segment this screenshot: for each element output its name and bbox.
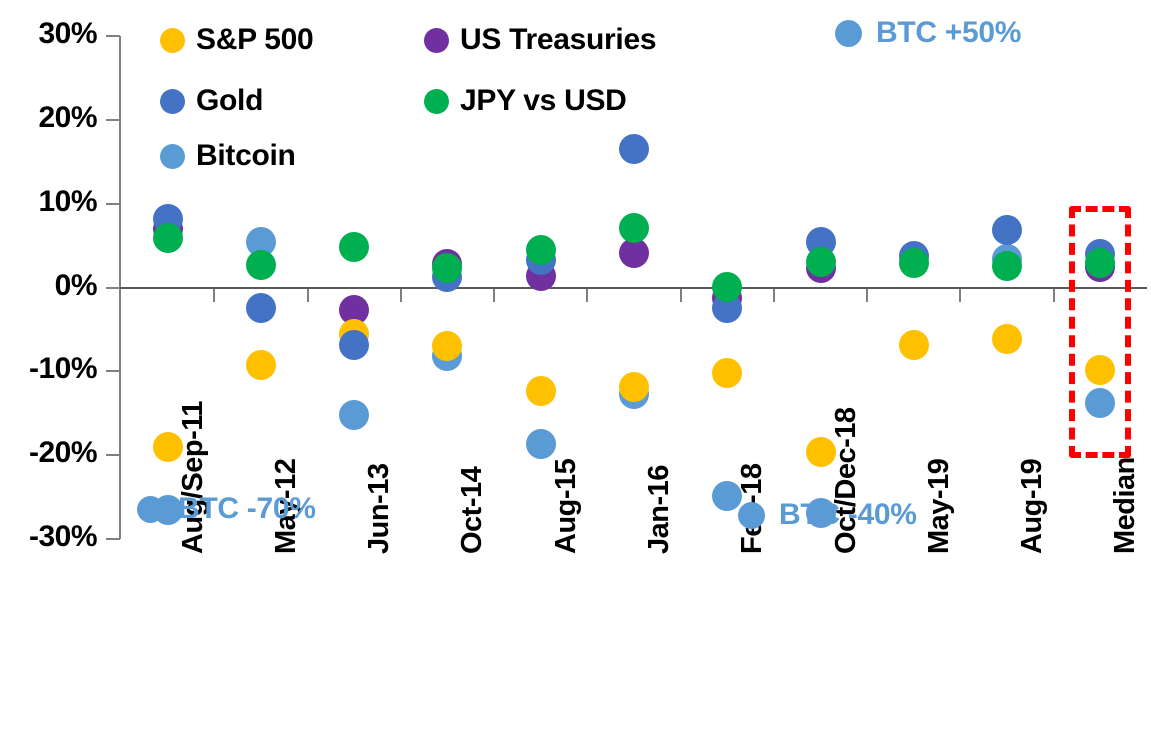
category-separator — [1053, 289, 1055, 302]
legend-marker-icon — [160, 89, 185, 114]
annotation-label: BTC -70% — [178, 492, 316, 526]
y-axis-tick-label: -30% — [0, 522, 97, 552]
data-point — [526, 429, 556, 459]
legend-item-label: Bitcoin — [196, 139, 296, 173]
data-point — [899, 330, 929, 360]
legend-item-label: JPY vs USD — [460, 84, 627, 118]
category-separator — [586, 289, 588, 302]
category-separator — [959, 289, 961, 302]
annotation-btc-down-70: BTC -70% — [137, 492, 316, 526]
category-separator — [400, 289, 402, 302]
legend-item-jpy-vs-usd[interactable]: JPY vs USD — [424, 84, 627, 118]
data-point — [526, 376, 556, 406]
legend-item-bitcoin[interactable]: Bitcoin — [160, 139, 296, 173]
data-point — [339, 232, 369, 262]
legend-item-gold[interactable]: Gold — [160, 84, 263, 118]
y-axis-tick — [106, 370, 120, 372]
data-point — [619, 213, 649, 243]
x-axis-label: Median — [1111, 457, 1140, 554]
x-axis-label: Jun-13 — [365, 464, 394, 554]
bitcoin-marker-icon — [137, 496, 164, 523]
data-point — [246, 350, 276, 380]
zero-baseline — [119, 287, 1147, 289]
x-axis-label: Aug/Sep-11 — [179, 401, 208, 554]
category-separator — [680, 289, 682, 302]
median-highlight-box — [1069, 206, 1131, 458]
annotation-label: BTC +50% — [876, 16, 1021, 50]
data-point — [153, 223, 183, 253]
data-point — [712, 358, 742, 388]
bitcoin-marker-icon — [738, 502, 765, 529]
category-separator — [773, 289, 775, 302]
data-point — [339, 330, 369, 360]
legend-item-label: Gold — [196, 84, 263, 118]
bitcoin-marker-icon — [835, 20, 862, 47]
annotation-label: BTC -40% — [779, 498, 917, 532]
data-point — [246, 250, 276, 280]
y-axis-tick-label: 10% — [0, 187, 97, 217]
y-axis-tick-label: -20% — [0, 438, 97, 468]
data-point — [992, 215, 1022, 245]
x-axis-label: Aug-15 — [552, 459, 581, 554]
x-axis-label: Aug-19 — [1018, 459, 1047, 554]
data-point — [899, 248, 929, 278]
annotation-btc-down-40: BTC -40% — [738, 498, 917, 532]
category-separator — [493, 289, 495, 302]
x-axis-label: Jan-16 — [645, 465, 674, 554]
legend-marker-icon — [424, 28, 449, 53]
data-point — [992, 324, 1022, 354]
data-point — [526, 235, 556, 265]
legend-item-us-treasuries[interactable]: US Treasuries — [424, 23, 656, 57]
y-axis-tick — [106, 538, 120, 540]
legend-marker-icon — [160, 144, 185, 169]
data-point — [339, 400, 369, 430]
x-axis-label: Oct-14 — [458, 467, 487, 554]
y-axis-tick-label: -10% — [0, 354, 97, 384]
category-separator — [866, 289, 868, 302]
category-separator — [213, 289, 215, 302]
data-point — [619, 134, 649, 164]
data-point — [992, 251, 1022, 281]
data-point — [712, 272, 742, 302]
x-axis-label: May-19 — [925, 459, 954, 554]
y-axis-tick — [106, 287, 120, 289]
y-axis-tick-label: 0% — [0, 271, 97, 301]
y-axis-tick — [106, 35, 120, 37]
y-axis-tick-label: 20% — [0, 103, 97, 133]
legend-marker-icon — [160, 28, 185, 53]
legend-marker-icon — [424, 89, 449, 114]
data-point — [806, 247, 836, 277]
annotation-btc-up: BTC +50% — [835, 16, 1021, 50]
legend-item-s-p-500[interactable]: S&P 500 — [160, 23, 313, 57]
legend-item-label: S&P 500 — [196, 23, 313, 57]
y-axis-tick-label: 30% — [0, 19, 97, 49]
scatter-chart: 30%20%10%0%-10%-20%-30% Aug/Sep-11May-12… — [0, 0, 1151, 739]
y-axis-tick — [106, 203, 120, 205]
legend-item-label: US Treasuries — [460, 23, 656, 57]
x-axis-label: Oct/Dec-18 — [832, 407, 861, 554]
y-axis-tick — [106, 119, 120, 121]
category-separator — [307, 289, 309, 302]
data-point — [246, 293, 276, 323]
y-axis-tick — [106, 454, 120, 456]
